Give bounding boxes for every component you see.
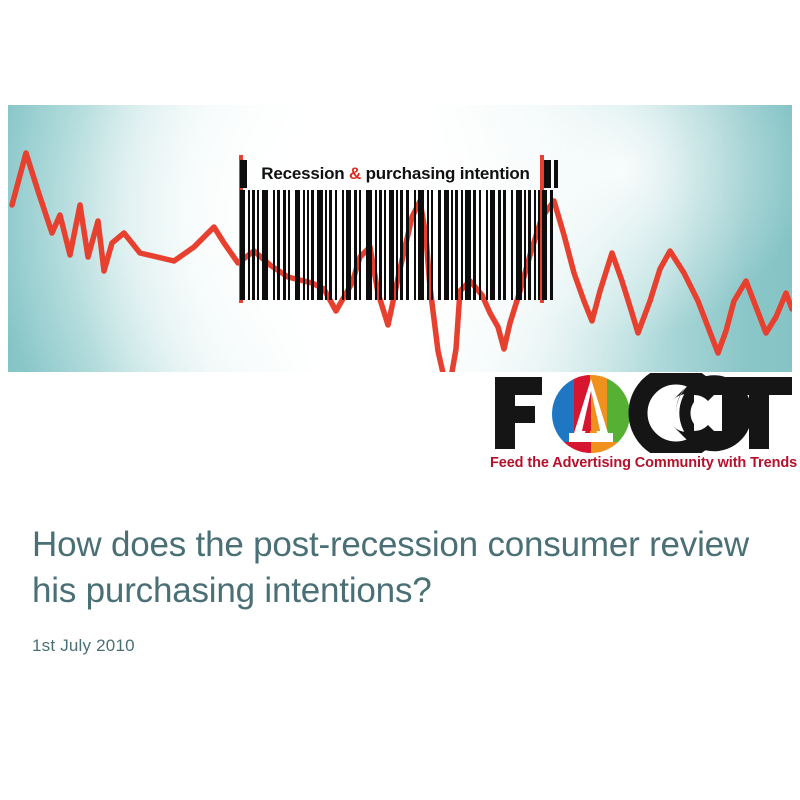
barcode-bar — [465, 190, 471, 300]
barcode-graphic: Recession & purchasing intention — [240, 160, 558, 302]
barcode-bar — [438, 190, 441, 300]
fact-logo: Feed the Advertising Community with Tren… — [490, 373, 795, 478]
barcode-bar — [455, 190, 458, 300]
barcode-bar — [252, 190, 255, 300]
barcode-bar — [375, 190, 377, 300]
barcode-bar — [414, 190, 416, 300]
barcode-bar — [473, 190, 476, 300]
barcode-bar — [406, 190, 409, 300]
barcode-bar — [418, 190, 424, 300]
barcode-bar — [288, 190, 290, 300]
barcode-bar — [498, 190, 501, 300]
presentation-title-slide: { "slide": { "title": "How does the post… — [0, 0, 800, 800]
barcode-bar — [248, 190, 250, 300]
barcode-bar — [329, 190, 332, 300]
barcode-bar — [542, 190, 547, 300]
barcode-bar — [534, 190, 536, 300]
barcode-bar — [550, 190, 553, 300]
barcode-guard-bar-left — [240, 160, 247, 188]
barcode-bar — [479, 190, 481, 300]
fact-wordmark-graphic — [490, 373, 795, 453]
barcode-bar — [524, 190, 526, 300]
barcode-bar — [346, 190, 351, 300]
barcode-bar — [379, 190, 382, 300]
barcode-bar — [307, 190, 309, 300]
barcode-bar — [431, 190, 433, 300]
barcode-bar — [400, 190, 403, 300]
barcode-bar — [335, 190, 337, 300]
barcode-title-text: Recession & purchasing intention — [247, 164, 544, 184]
barcode-bar — [262, 190, 268, 300]
barcode-bar — [384, 190, 386, 300]
barcode-bar — [273, 190, 275, 300]
page-title: How does the post-recession consumer rev… — [32, 522, 772, 614]
barcode-bar — [317, 190, 323, 300]
barcode-bar — [311, 190, 314, 300]
barcode-bar — [516, 190, 522, 300]
barcode-bar — [528, 190, 531, 300]
barcode-bar — [257, 190, 259, 300]
barcode-bars — [240, 190, 558, 300]
barcode-title-ampersand: & — [349, 164, 361, 183]
barcode-bar — [354, 190, 357, 300]
barcode-bar — [538, 190, 540, 300]
barcode-bar — [444, 190, 449, 300]
logo-tagline: Feed the Advertising Community with Tren… — [490, 455, 795, 471]
logo-letter-f-glyph — [495, 377, 542, 449]
barcode-title-bar: Recession & purchasing intention — [240, 160, 558, 188]
barcode-guard-bar-right-outer — [544, 160, 551, 188]
barcode-bar — [451, 190, 453, 300]
barcode-title-prefix: Recession — [261, 164, 349, 183]
barcode-bar — [396, 190, 398, 300]
barcode-bar — [342, 190, 344, 300]
barcode-guard-bar-right-inner — [554, 160, 558, 188]
barcode-bar — [486, 190, 488, 300]
barcode-bar — [490, 190, 495, 300]
barcode-bar — [461, 190, 463, 300]
barcode-bar — [240, 190, 245, 300]
barcode-bar — [295, 190, 300, 300]
barcode-bar — [359, 190, 361, 300]
barcode-bar — [283, 190, 286, 300]
barcode-bar — [503, 190, 506, 300]
barcode-bar — [427, 190, 429, 300]
barcode-bar — [303, 190, 305, 300]
barcode-bar — [325, 190, 327, 300]
barcode-title-suffix: purchasing intention — [361, 164, 530, 183]
slide-date: 1st July 2010 — [32, 636, 772, 656]
barcode-bar — [389, 190, 394, 300]
title-block: How does the post-recession consumer rev… — [32, 522, 772, 656]
barcode-bar — [366, 190, 372, 300]
barcode-bar — [511, 190, 513, 300]
logo-letter-a-disc — [552, 373, 632, 453]
barcode-bar — [277, 190, 280, 300]
